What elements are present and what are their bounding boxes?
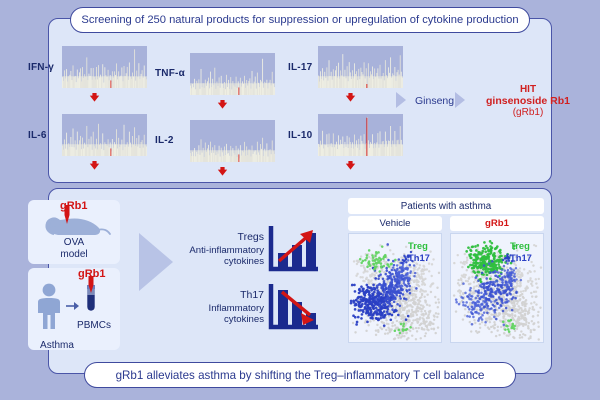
small-arrow-right-icon <box>66 300 80 312</box>
bar-chart-up-icon <box>268 224 320 272</box>
figure-canvas: Screening of 250 natural products for su… <box>0 0 600 400</box>
column-header-grb1: gRb1 <box>450 216 544 231</box>
ginseng-label: Ginseng <box>415 95 454 107</box>
chart-il2 <box>190 120 275 162</box>
cytokine-label-ifng: IFN-γ <box>28 62 54 73</box>
top-caption-pill: Screening of 250 natural products for su… <box>70 7 530 33</box>
ova-label-line2: model <box>28 249 120 261</box>
legend-treg-grb1: Treg <box>510 240 530 251</box>
legend-treg-vehicle: Treg <box>408 240 428 251</box>
tregs-title: Tregs <box>176 231 264 243</box>
red-dropper-icon <box>60 205 74 225</box>
bottom-caption-pill: gRb1 alleviates asthma by shifting the T… <box>84 362 516 388</box>
chart-il6 <box>62 114 147 156</box>
chart-il17 <box>318 46 403 88</box>
tregs-sub-2: cytokines <box>166 256 264 268</box>
th17-sub-2: cytokines <box>166 314 264 326</box>
cytokine-label-il6: IL-6 <box>28 130 47 141</box>
cytokine-label-il17: IL-17 <box>288 62 312 73</box>
person-icon <box>34 282 64 330</box>
cytokine-label-il10: IL-10 <box>288 130 312 141</box>
bottom-caption-text: gRb1 alleviates asthma by shifting the T… <box>116 369 485 382</box>
cytokine-label-tnfa: TNF-α <box>155 68 185 79</box>
column-header-vehicle: Vehicle <box>348 216 442 231</box>
chart-tnfa <box>190 53 275 95</box>
th17-title: Th17 <box>176 289 264 301</box>
cytokine-label-il2: IL-2 <box>155 135 174 146</box>
red-dropper-icon <box>84 276 98 294</box>
pbmc-label: PBMCs <box>68 320 120 332</box>
legend-th17-vehicle: Th17 <box>408 252 430 263</box>
hit-word: HIT <box>473 84 583 95</box>
asthma-label: Asthma <box>26 340 88 352</box>
ova-label-line1: OVA <box>28 237 120 249</box>
chart-il10 <box>318 114 403 156</box>
patients-header: Patients with asthma <box>348 198 544 214</box>
triangle-right-icon-1 <box>396 92 406 108</box>
hit-abbrev: (gRb1) <box>473 107 583 118</box>
top-caption-text: Screening of 250 natural products for su… <box>81 14 518 26</box>
hit-compound: ginsenoside Rb1 <box>463 95 593 107</box>
chart-ifng <box>62 46 147 88</box>
bar-chart-down-icon <box>268 282 320 330</box>
legend-th17-grb1: Th17 <box>510 252 532 263</box>
